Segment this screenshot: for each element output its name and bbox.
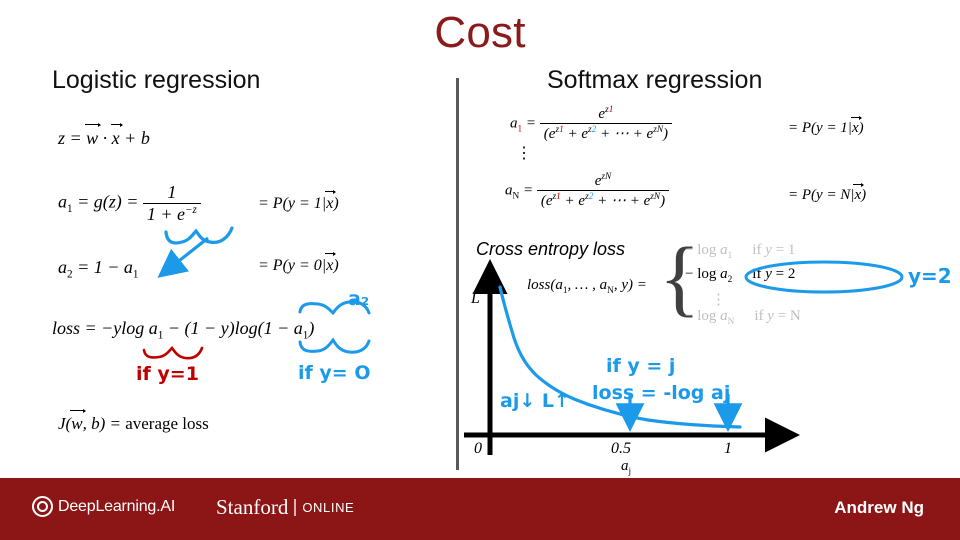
equation-softmax-aN: aN = ezN (ez1 + ez2 + ⋯ + ezN) bbox=[505, 172, 669, 210]
case-row: − log aNif y = N bbox=[685, 308, 801, 327]
equation-cross-entropy-lhs: loss(a1, … , aN, y) = bbox=[527, 277, 647, 296]
stanford-online-logo: Stanford ONLINE bbox=[216, 495, 354, 520]
annotation-if-y-0: if y= O bbox=[298, 362, 370, 384]
annotation-aj-down-L-up: aj↓ L↑ bbox=[500, 390, 570, 412]
annotation-loss-log-aj: loss = -log aj bbox=[592, 382, 730, 404]
equation-logistic-loss: loss = −ylog a1 − (1 − y)log(1 − a1) bbox=[52, 318, 314, 342]
sigmoid-brace-annotation bbox=[166, 228, 232, 268]
equation-softmax-aN-probability: = P(y = N|x) bbox=[788, 187, 866, 204]
blue-underbrace bbox=[300, 340, 369, 352]
case-vdots: ⋮ bbox=[711, 290, 726, 309]
case-row: − log a2if y = 2 bbox=[685, 266, 795, 285]
equation-a1-sigmoid: a1 = g(z) = 1 1 + e−z bbox=[58, 182, 201, 225]
case-condition: if y = N bbox=[754, 308, 800, 325]
deeplearning-logo: DeepLearning.AI bbox=[32, 496, 175, 517]
x-axis-label: aj bbox=[621, 458, 631, 477]
logo-divider bbox=[294, 499, 296, 516]
case-condition: if y = 2 bbox=[752, 266, 795, 283]
spiral-icon bbox=[32, 496, 53, 517]
deeplearning-label: DeepLearning.AI bbox=[58, 498, 175, 516]
stanford-label: Stanford bbox=[216, 495, 288, 520]
red-underbrace bbox=[144, 348, 202, 358]
x-tick-1: 1 bbox=[724, 440, 732, 458]
equation-a2: a2 = 1 − a1 bbox=[58, 257, 138, 281]
section-heading-logistic: Logistic regression bbox=[52, 66, 260, 95]
x-tick-05: 0.5 bbox=[611, 440, 631, 458]
section-heading-softmax: Softmax regression bbox=[547, 66, 762, 95]
footer-bar: DeepLearning.AI Stanford ONLINE Andrew N… bbox=[0, 478, 960, 540]
equation-softmax-a1: a1 = ez1 (ez1 + ez2 + ⋯ + ezN) bbox=[510, 105, 672, 143]
equation-z: z = w · x + b bbox=[58, 128, 150, 149]
equation-a2-probability: = P(y = 0|x) bbox=[258, 257, 339, 275]
equation-cost-J: J(w, b) = average loss bbox=[58, 414, 209, 434]
y-axis-label: L bbox=[471, 290, 480, 308]
column-divider bbox=[456, 78, 459, 470]
author-name: Andrew Ng bbox=[834, 498, 924, 518]
cross-entropy-title: Cross entropy loss bbox=[476, 239, 625, 260]
annotation-a2: a₂ bbox=[348, 288, 369, 310]
online-label: ONLINE bbox=[302, 500, 354, 515]
annotation-y-equals-2: y=2 bbox=[908, 264, 952, 288]
case-condition: if y = 1 bbox=[752, 242, 795, 259]
softmax-vdots: ⋮ bbox=[516, 143, 532, 163]
case-row: − log a1if y = 1 bbox=[685, 242, 795, 261]
x-tick-0: 0 bbox=[474, 440, 482, 458]
equation-a1-probability: = P(y = 1|x) bbox=[258, 195, 339, 213]
annotation-if-y-1: if y=1 bbox=[136, 363, 199, 385]
slide-canvas: Cost Logistic regression Softmax regress… bbox=[0, 0, 960, 540]
page-title: Cost bbox=[0, 8, 960, 58]
equation-softmax-a1-probability: = P(y = 1|x) bbox=[788, 120, 864, 137]
annotation-if-y-j: if y = j bbox=[606, 355, 675, 377]
